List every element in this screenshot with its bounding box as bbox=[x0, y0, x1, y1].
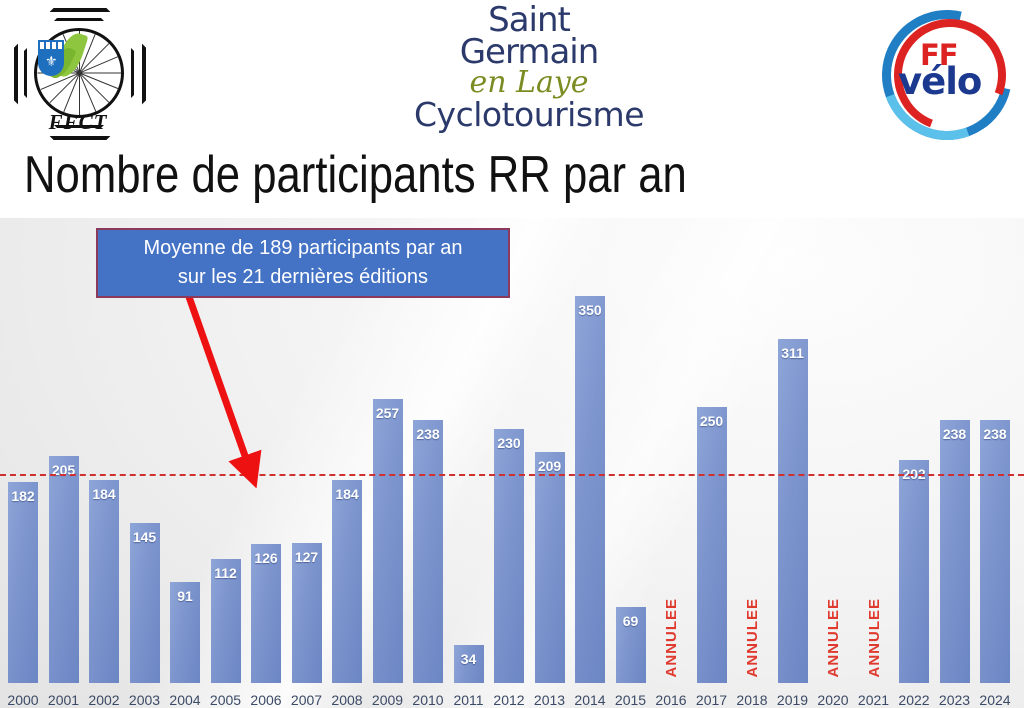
x-axis-tick-2024: 2024 bbox=[975, 692, 1015, 708]
bar-value-label-2017: 250 bbox=[697, 413, 727, 429]
bar-value-label-2012: 230 bbox=[494, 435, 524, 451]
ffvelo-logo: FF vélo bbox=[880, 8, 1008, 132]
bar-2003[interactable] bbox=[130, 523, 160, 683]
chart-area: 1822000205200118420021452003912004112200… bbox=[0, 218, 1024, 708]
bar-2009[interactable] bbox=[373, 399, 403, 683]
x-axis-tick-2003: 2003 bbox=[125, 692, 165, 708]
bar-value-label-2019: 311 bbox=[778, 345, 808, 361]
callout-line-2: sur les 21 dernières éditions bbox=[178, 263, 428, 292]
bar-value-label-2003: 145 bbox=[130, 529, 160, 545]
x-axis-tick-2019: 2019 bbox=[773, 692, 813, 708]
bar-2012[interactable] bbox=[494, 429, 524, 683]
x-axis-tick-2021: 2021 bbox=[854, 692, 894, 708]
ffvelo-velo-text: vélo bbox=[898, 60, 981, 103]
x-axis-tick-2007: 2007 bbox=[287, 692, 327, 708]
average-callout-box: Moyenne de 189 participants par an sur l… bbox=[96, 228, 510, 298]
bar-2000[interactable] bbox=[8, 482, 38, 683]
bar-value-label-2004: 91 bbox=[170, 588, 200, 604]
bar-2019[interactable] bbox=[778, 339, 808, 683]
callout-line-1: Moyenne de 189 participants par an bbox=[143, 234, 462, 263]
ffct-wordmark: FFCT bbox=[8, 110, 148, 135]
logo-line-en-laye: en Laye bbox=[384, 68, 674, 98]
bar-value-label-2007: 127 bbox=[292, 549, 322, 565]
bar-value-label-2024: 238 bbox=[980, 426, 1010, 442]
x-axis-tick-2010: 2010 bbox=[408, 692, 448, 708]
bar-value-label-2010: 238 bbox=[413, 426, 443, 442]
x-axis-tick-2008: 2008 bbox=[327, 692, 367, 708]
bar-2001[interactable] bbox=[49, 456, 79, 683]
cancelled-label-2018: ANNULEE bbox=[744, 598, 760, 678]
bar-2002[interactable] bbox=[89, 480, 119, 683]
x-axis-tick-2022: 2022 bbox=[894, 692, 934, 708]
x-axis-tick-2014: 2014 bbox=[570, 692, 610, 708]
x-axis-tick-2020: 2020 bbox=[813, 692, 853, 708]
x-axis-tick-2012: 2012 bbox=[489, 692, 529, 708]
cancelled-label-2021: ANNULEE bbox=[866, 598, 882, 678]
logo-line-germain: Germain bbox=[384, 36, 674, 68]
x-axis-tick-2016: 2016 bbox=[651, 692, 691, 708]
x-axis-tick-2018: 2018 bbox=[732, 692, 772, 708]
cancelled-label-2016: ANNULEE bbox=[663, 598, 679, 678]
ffct-logo: ⚜ FFCT bbox=[8, 6, 148, 138]
bar-2017[interactable] bbox=[697, 407, 727, 683]
bar-value-label-2009: 257 bbox=[373, 405, 403, 421]
average-line bbox=[0, 474, 1024, 476]
bar-value-label-2005: 112 bbox=[211, 565, 241, 581]
bar-value-label-2014: 350 bbox=[575, 302, 605, 318]
x-axis-tick-2017: 2017 bbox=[692, 692, 732, 708]
bar-2013[interactable] bbox=[535, 452, 565, 683]
x-axis-tick-2002: 2002 bbox=[84, 692, 124, 708]
bar-value-label-2002: 184 bbox=[89, 486, 119, 502]
bar-2023[interactable] bbox=[940, 420, 970, 683]
x-axis-tick-2005: 2005 bbox=[206, 692, 246, 708]
bar-2022[interactable] bbox=[899, 460, 929, 683]
cancelled-label-2020: ANNULEE bbox=[825, 598, 841, 678]
bar-value-label-2013: 209 bbox=[535, 458, 565, 474]
bar-2024[interactable] bbox=[980, 420, 1010, 683]
bar-value-label-2006: 126 bbox=[251, 550, 281, 566]
x-axis-tick-2001: 2001 bbox=[44, 692, 84, 708]
bar-value-label-2015: 69 bbox=[616, 613, 646, 629]
saint-germain-logo: Saint Germain en Laye Cyclotourisme bbox=[384, 4, 674, 136]
bar-value-label-2008: 184 bbox=[332, 486, 362, 502]
x-axis-tick-2004: 2004 bbox=[165, 692, 205, 708]
bar-2014[interactable] bbox=[575, 296, 605, 683]
x-axis-tick-2011: 2011 bbox=[449, 692, 489, 708]
bar-value-label-2023: 238 bbox=[940, 426, 970, 442]
bar-value-label-2011: 34 bbox=[454, 651, 484, 667]
x-axis-tick-2023: 2023 bbox=[935, 692, 975, 708]
bar-2010[interactable] bbox=[413, 420, 443, 683]
bar-value-label-2000: 182 bbox=[8, 488, 38, 504]
x-axis-tick-2013: 2013 bbox=[530, 692, 570, 708]
bar-2008[interactable] bbox=[332, 480, 362, 683]
page-title: Nombre de participants RR par an bbox=[24, 146, 687, 204]
header-logos: ⚜ FFCT Saint Germain en Laye Cyclotouris… bbox=[0, 0, 1024, 140]
x-axis-tick-2015: 2015 bbox=[611, 692, 651, 708]
ffct-fleur-icon: ⚜ bbox=[45, 54, 57, 70]
x-axis-tick-2009: 2009 bbox=[368, 692, 408, 708]
logo-line-cyclotourisme: Cyclotourisme bbox=[384, 98, 674, 132]
x-axis-tick-2000: 2000 bbox=[3, 692, 43, 708]
x-axis-tick-2006: 2006 bbox=[246, 692, 286, 708]
